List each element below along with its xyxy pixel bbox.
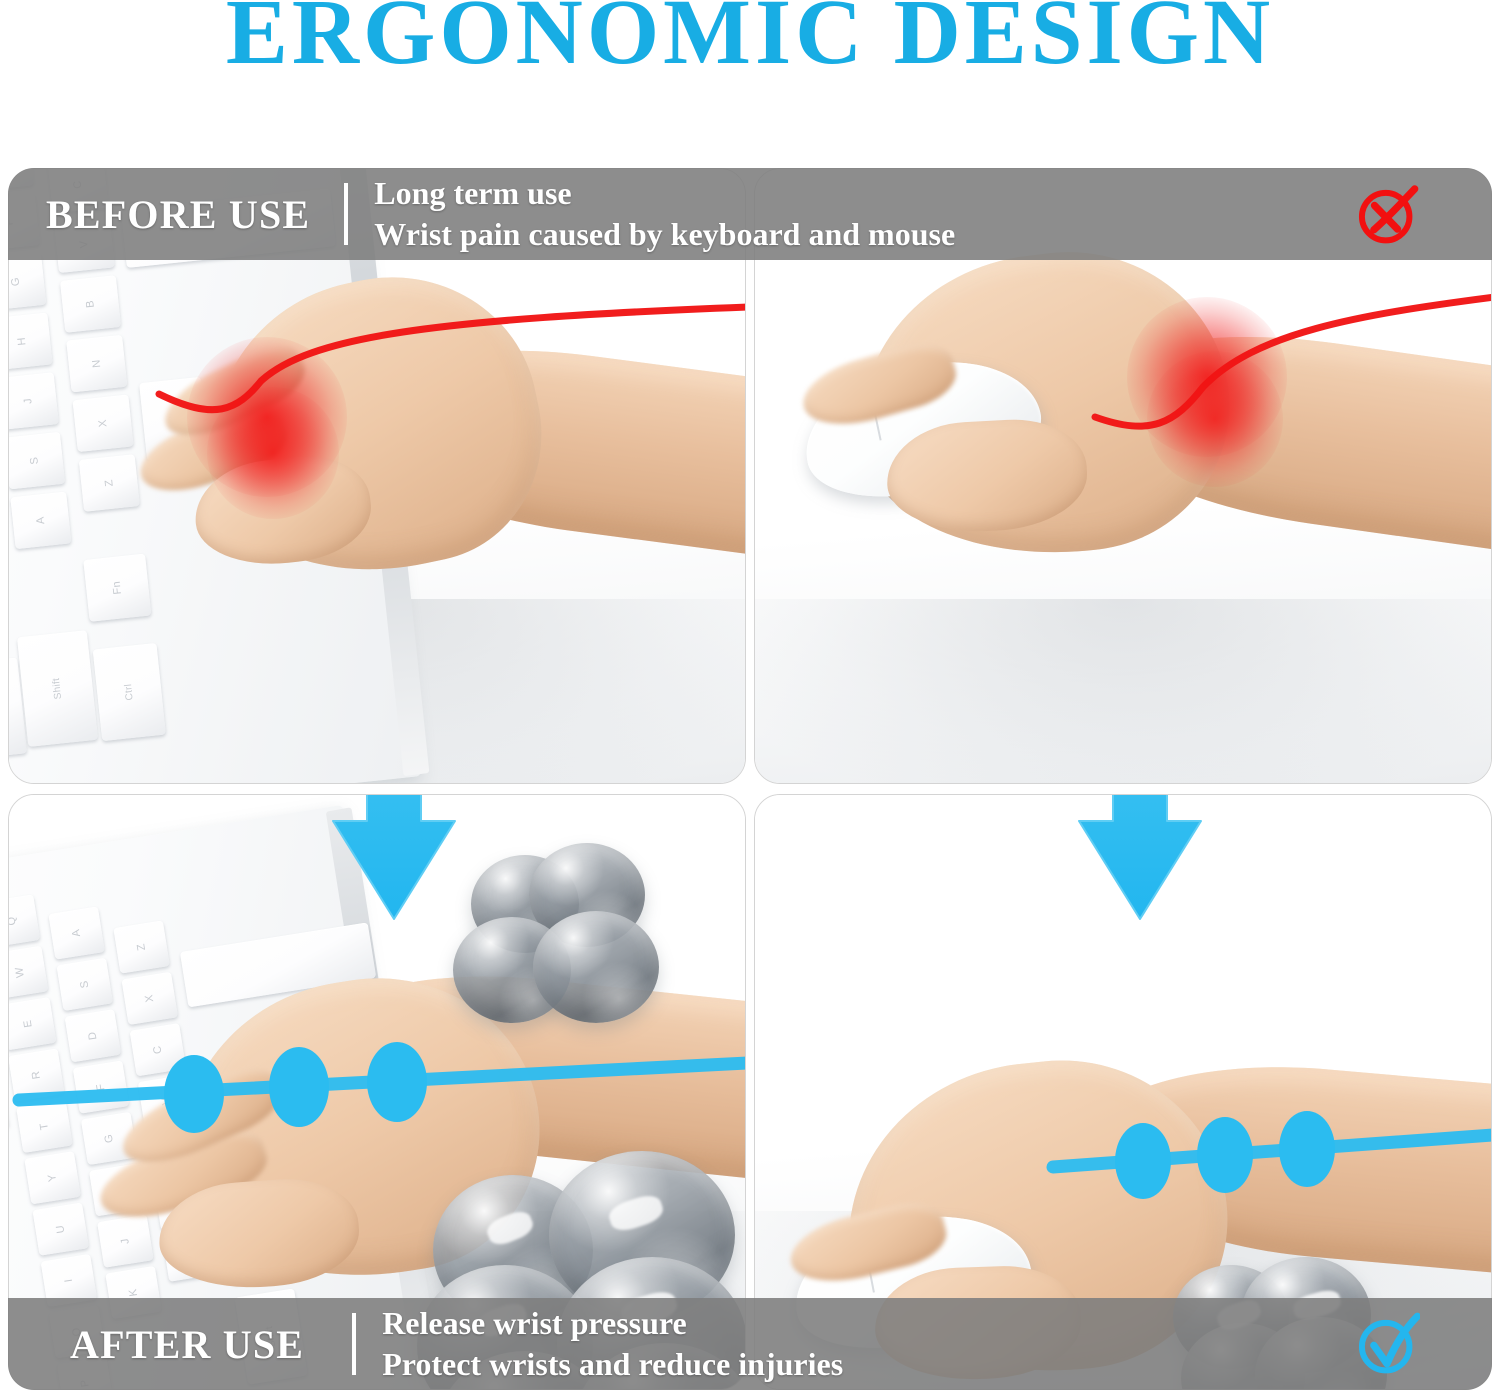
banner-after-line-2: Protect wrists and reduce injuries	[382, 1345, 843, 1384]
banner-after-label: AFTER USE	[70, 1321, 304, 1368]
panel-before-mouse	[754, 168, 1492, 784]
comfort-node	[1279, 1111, 1335, 1187]
banner-after-use: AFTER USE Release wrist pressure Protect…	[8, 1298, 1492, 1390]
banner-divider	[344, 183, 348, 245]
banner-before-line-1: Long term use	[374, 174, 955, 213]
banner-after-text: Release wrist pressure Protect wrists an…	[382, 1304, 843, 1384]
comfort-node	[1115, 1123, 1171, 1199]
banner-before-use: BEFORE USE Long term use Wrist pain caus…	[8, 168, 1492, 260]
comfort-node	[164, 1055, 224, 1133]
down-arrow-left-head	[319, 795, 469, 927]
comfort-node	[1197, 1117, 1253, 1193]
down-arrow-right-head	[1065, 795, 1215, 927]
banner-before-label: BEFORE USE	[46, 191, 310, 238]
pain-nerve-line	[755, 169, 1491, 783]
panel-before-keyboard: E R T Y U I O P CapsLK D F G H J S A Sh	[8, 168, 746, 784]
pain-nerve-line	[9, 169, 745, 783]
check-circle-icon	[1354, 1311, 1420, 1377]
banner-after-line-1: Release wrist pressure	[382, 1304, 843, 1343]
banner-before-line-2: Wrist pain caused by keyboard and mouse	[374, 215, 955, 254]
cross-circle-icon	[1354, 181, 1420, 247]
banner-before-text: Long term use Wrist pain caused by keybo…	[374, 174, 955, 254]
page-title: ERGONOMIC DESIGN	[0, 0, 1500, 79]
banner-divider	[352, 1313, 356, 1375]
panel-grid: E R T Y U I O P CapsLK D F G H J S A Sh	[8, 168, 1492, 1390]
comfort-node	[367, 1042, 427, 1122]
infographic-root: ERGONOMIC DESIGN E R T Y U I O	[0, 0, 1500, 1392]
comfort-node	[269, 1047, 329, 1127]
